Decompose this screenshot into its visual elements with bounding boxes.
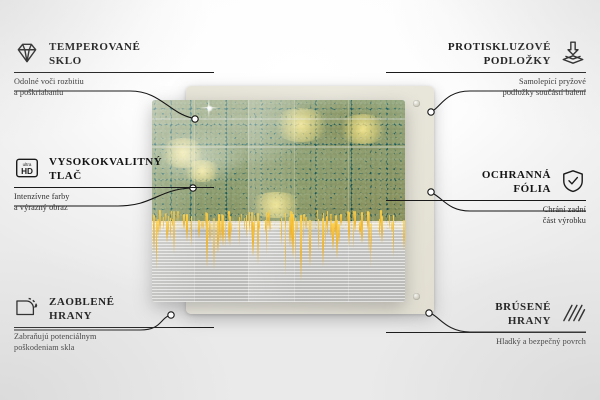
gold-drip bbox=[335, 215, 337, 238]
divider bbox=[14, 72, 214, 73]
feature-subtitle: Hladký a bezpečný povrch bbox=[386, 337, 586, 348]
feature-subtitle: Zabraňujú potenciálnym poškodeniam skla bbox=[14, 332, 214, 353]
feature-title: ZAOBLENÉ HRANY bbox=[49, 295, 115, 323]
gold-drip bbox=[295, 218, 296, 264]
pad-stack-arrow-icon bbox=[560, 40, 586, 66]
gold-drip bbox=[367, 212, 368, 231]
feature-title: TEMPEROVANÉ SKLO bbox=[49, 40, 140, 68]
feature-anti-slip-pads: PROTISKLUZOVÉ PODLOŽKY Samolepící pryžov… bbox=[386, 40, 586, 98]
gold-drip bbox=[165, 213, 167, 221]
rounded-corner-icon bbox=[14, 295, 40, 321]
feature-rounded-edges: ZAOBLENÉ HRANY Zabraňujú potenciálnym po… bbox=[14, 295, 214, 353]
glass-reflection-line bbox=[152, 118, 405, 120]
feature-high-quality-print: ultra HD VYSOKOKVALITNÝ TLAČ Intenzívne … bbox=[14, 155, 214, 213]
feature-protective-foil: OCHRANNÁ FÓLIA Chrání zadní část výrobku bbox=[386, 168, 586, 226]
gold-drip bbox=[359, 223, 361, 235]
divider bbox=[386, 200, 586, 201]
feature-title: OCHRANNÁ FÓLIA bbox=[482, 168, 551, 196]
gold-drip bbox=[370, 224, 371, 269]
divider bbox=[386, 72, 586, 73]
feature-subtitle: Chrání zadní část výrobku bbox=[386, 205, 586, 226]
ultra-hd-icon: ultra HD bbox=[14, 155, 40, 181]
feature-title: PROTISKLUZOVÉ PODLOŽKY bbox=[448, 40, 551, 68]
gold-drip bbox=[191, 216, 192, 240]
gold-drip bbox=[381, 216, 383, 245]
gold-drip bbox=[296, 221, 298, 234]
gold-drip bbox=[153, 215, 155, 224]
divider bbox=[386, 332, 586, 333]
gold-drip bbox=[354, 211, 356, 233]
gold-drip bbox=[205, 212, 207, 228]
gold-drip bbox=[241, 214, 243, 223]
feature-subtitle: Samolepící pryžové podložky součástí bal… bbox=[386, 77, 586, 98]
rubber-pad-top-right bbox=[413, 100, 420, 107]
gold-cluster bbox=[272, 108, 330, 142]
feature-tempered-glass: TEMPEROVANÉ SKLO Odolné voči rozbitiu a … bbox=[14, 40, 214, 98]
divider bbox=[14, 187, 214, 188]
gold-drip bbox=[270, 221, 272, 232]
gold-drip bbox=[303, 219, 304, 243]
gold-drip bbox=[340, 214, 342, 227]
gold-drip bbox=[318, 219, 319, 252]
gold-drip bbox=[231, 223, 232, 234]
gold-drip bbox=[229, 216, 231, 248]
gold-drip bbox=[168, 216, 170, 237]
feature-ground-edges: BRÚSENÉ HRANY Hladký a bezpečný povrch bbox=[386, 300, 586, 348]
gold-drip bbox=[289, 217, 290, 249]
gold-drip bbox=[305, 217, 307, 230]
gold-drip bbox=[183, 214, 185, 230]
artwork-grey-area bbox=[152, 221, 405, 302]
gold-drip bbox=[253, 222, 255, 234]
feature-title: BRÚSENÉ HRANY bbox=[495, 300, 551, 328]
gold-drip bbox=[347, 211, 349, 225]
feature-title: VYSOKOKVALITNÝ TLAČ bbox=[49, 155, 162, 183]
gold-drip bbox=[330, 220, 332, 239]
gold-drip bbox=[258, 221, 260, 232]
feature-subtitle: Intenzívne farby a výrazný obraz bbox=[14, 192, 214, 213]
gold-drip bbox=[170, 218, 172, 241]
gold-drip bbox=[186, 214, 188, 242]
rubber-pad-bottom-right bbox=[413, 293, 420, 300]
divider bbox=[14, 327, 214, 328]
gold-drip bbox=[217, 221, 219, 254]
gold-drip bbox=[166, 221, 168, 243]
svg-text:HD: HD bbox=[21, 167, 33, 176]
glass-reflection-line bbox=[152, 146, 405, 148]
gold-drip bbox=[213, 218, 215, 271]
gold-drip bbox=[292, 212, 293, 230]
gold-drip bbox=[266, 212, 267, 255]
diagonal-lines-icon bbox=[560, 300, 586, 326]
gold-drip bbox=[198, 220, 200, 239]
glass-reflection-seam bbox=[294, 100, 295, 302]
glass-reflection-seam bbox=[348, 100, 349, 302]
gold-drip bbox=[338, 224, 340, 245]
product-infographic: TEMPEROVANÉ SKLO Odolné voči rozbitiu a … bbox=[0, 0, 600, 400]
diamond-icon bbox=[14, 40, 40, 66]
gold-drip bbox=[303, 214, 305, 222]
gold-drip bbox=[222, 215, 224, 247]
feature-subtitle: Odolné voči rozbitiu a poškriabaniu bbox=[14, 77, 214, 98]
gold-drip bbox=[177, 211, 179, 222]
gold-drip bbox=[300, 218, 302, 282]
gold-drip bbox=[201, 221, 203, 230]
glass-reflection-seam bbox=[248, 100, 249, 302]
gold-drip bbox=[173, 211, 175, 254]
shield-check-icon bbox=[560, 168, 586, 194]
